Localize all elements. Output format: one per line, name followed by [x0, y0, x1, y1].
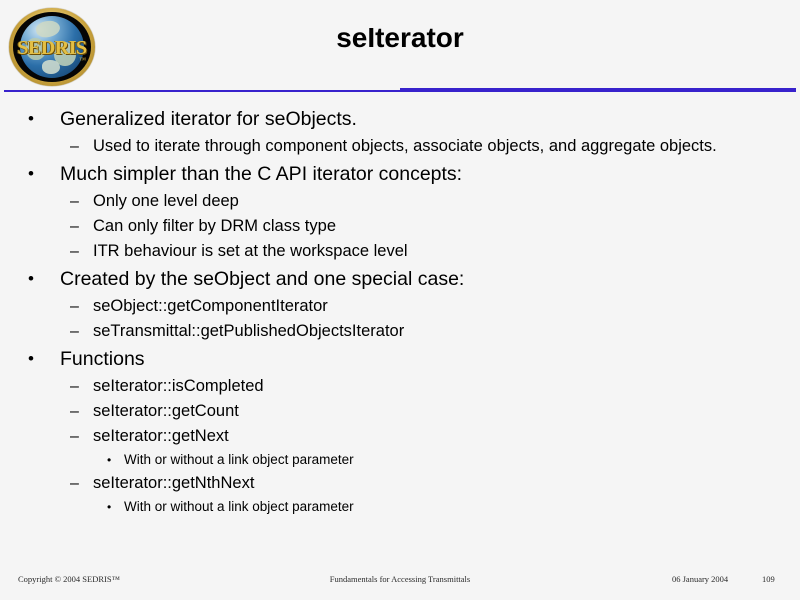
slide-header: SEDRIS ™ seIterator	[0, 0, 800, 92]
bullet-text: Only one level deep	[93, 189, 800, 214]
header-rule-left	[4, 90, 404, 92]
footer-date: 06 January 2004	[672, 574, 728, 584]
bullet-text: Functions	[60, 344, 800, 374]
logo-inner-disc: SEDRIS ™	[13, 12, 91, 82]
bullet-level-2: –seIterator::isCompleted	[0, 374, 800, 399]
bullet-text: seIterator::isCompleted	[93, 374, 800, 399]
bullet-text: ITR behaviour is set at the workspace le…	[93, 239, 800, 264]
logo-trademark: ™	[79, 56, 86, 64]
bullet-level-1: •Functions	[0, 344, 800, 374]
bullet-text: seTransmittal::getPublishedObjectsIterat…	[93, 319, 800, 344]
dash-bullet-icon: –	[70, 189, 79, 214]
dot-bullet-icon: •	[28, 264, 34, 294]
header-rule-right	[400, 88, 796, 92]
dash-bullet-icon: –	[70, 471, 79, 496]
bullet-text: Generalized iterator for seObjects.	[60, 104, 800, 134]
dot-bullet-icon: •	[107, 449, 111, 471]
logo-wordmark: SEDRIS	[13, 38, 91, 58]
bullet-level-1: •Generalized iterator for seObjects.	[0, 104, 800, 134]
dot-bullet-icon: •	[28, 344, 34, 374]
dash-bullet-icon: –	[70, 239, 79, 264]
bullet-level-2: –seTransmittal::getPublishedObjectsItera…	[0, 319, 800, 344]
bullet-text: Can only filter by DRM class type	[93, 214, 800, 239]
bullet-text: seIterator::getNext	[93, 424, 800, 449]
dot-bullet-icon: •	[28, 159, 34, 189]
bullet-text: seIterator::getCount	[93, 399, 800, 424]
bullet-level-2: –Can only filter by DRM class type	[0, 214, 800, 239]
dot-bullet-icon: •	[28, 104, 34, 134]
bullet-text: Used to iterate through component object…	[93, 134, 800, 159]
bullet-level-3: •With or without a link object parameter	[0, 449, 800, 471]
bullet-level-1: •Much simpler than the C API iterator co…	[0, 159, 800, 189]
globe-landmass	[42, 60, 60, 74]
bullet-text: seObject::getComponentIterator	[93, 294, 800, 319]
dash-bullet-icon: –	[70, 399, 79, 424]
dot-bullet-icon: •	[107, 496, 111, 518]
bullet-text: seIterator::getNthNext	[93, 471, 800, 496]
slide-footer: Copyright © 2004 SEDRIS™ Fundamentals fo…	[0, 568, 800, 592]
bullet-level-2: –Only one level deep	[0, 189, 800, 214]
bullet-text: Created by the seObject and one special …	[60, 264, 800, 294]
bullet-level-2: –Used to iterate through component objec…	[0, 134, 800, 159]
dash-bullet-icon: –	[70, 294, 79, 319]
bullet-text: Much simpler than the C API iterator con…	[60, 159, 800, 189]
dash-bullet-icon: –	[70, 134, 79, 159]
bullet-level-2: –seObject::getComponentIterator	[0, 294, 800, 319]
bullet-level-2: –seIterator::getNthNext	[0, 471, 800, 496]
dash-bullet-icon: –	[70, 214, 79, 239]
bullet-level-2: –seIterator::getCount	[0, 399, 800, 424]
slide-body: •Generalized iterator for seObjects.–Use…	[0, 104, 800, 518]
bullet-text: With or without a link object parameter	[124, 449, 800, 471]
sedris-logo: SEDRIS ™	[9, 8, 95, 86]
bullet-level-1: •Created by the seObject and one special…	[0, 264, 800, 294]
bullet-level-3: •With or without a link object parameter	[0, 496, 800, 518]
bullet-text: With or without a link object parameter	[124, 496, 800, 518]
bullet-level-2: –ITR behaviour is set at the workspace l…	[0, 239, 800, 264]
presentation-slide: SEDRIS ™ seIterator •Generalized iterato…	[0, 0, 800, 600]
bullet-level-2: –seIterator::getNext	[0, 424, 800, 449]
dash-bullet-icon: –	[70, 424, 79, 449]
dash-bullet-icon: –	[70, 319, 79, 344]
page-title: seIterator	[120, 22, 680, 54]
footer-page-number: 109	[762, 574, 775, 584]
dash-bullet-icon: –	[70, 374, 79, 399]
